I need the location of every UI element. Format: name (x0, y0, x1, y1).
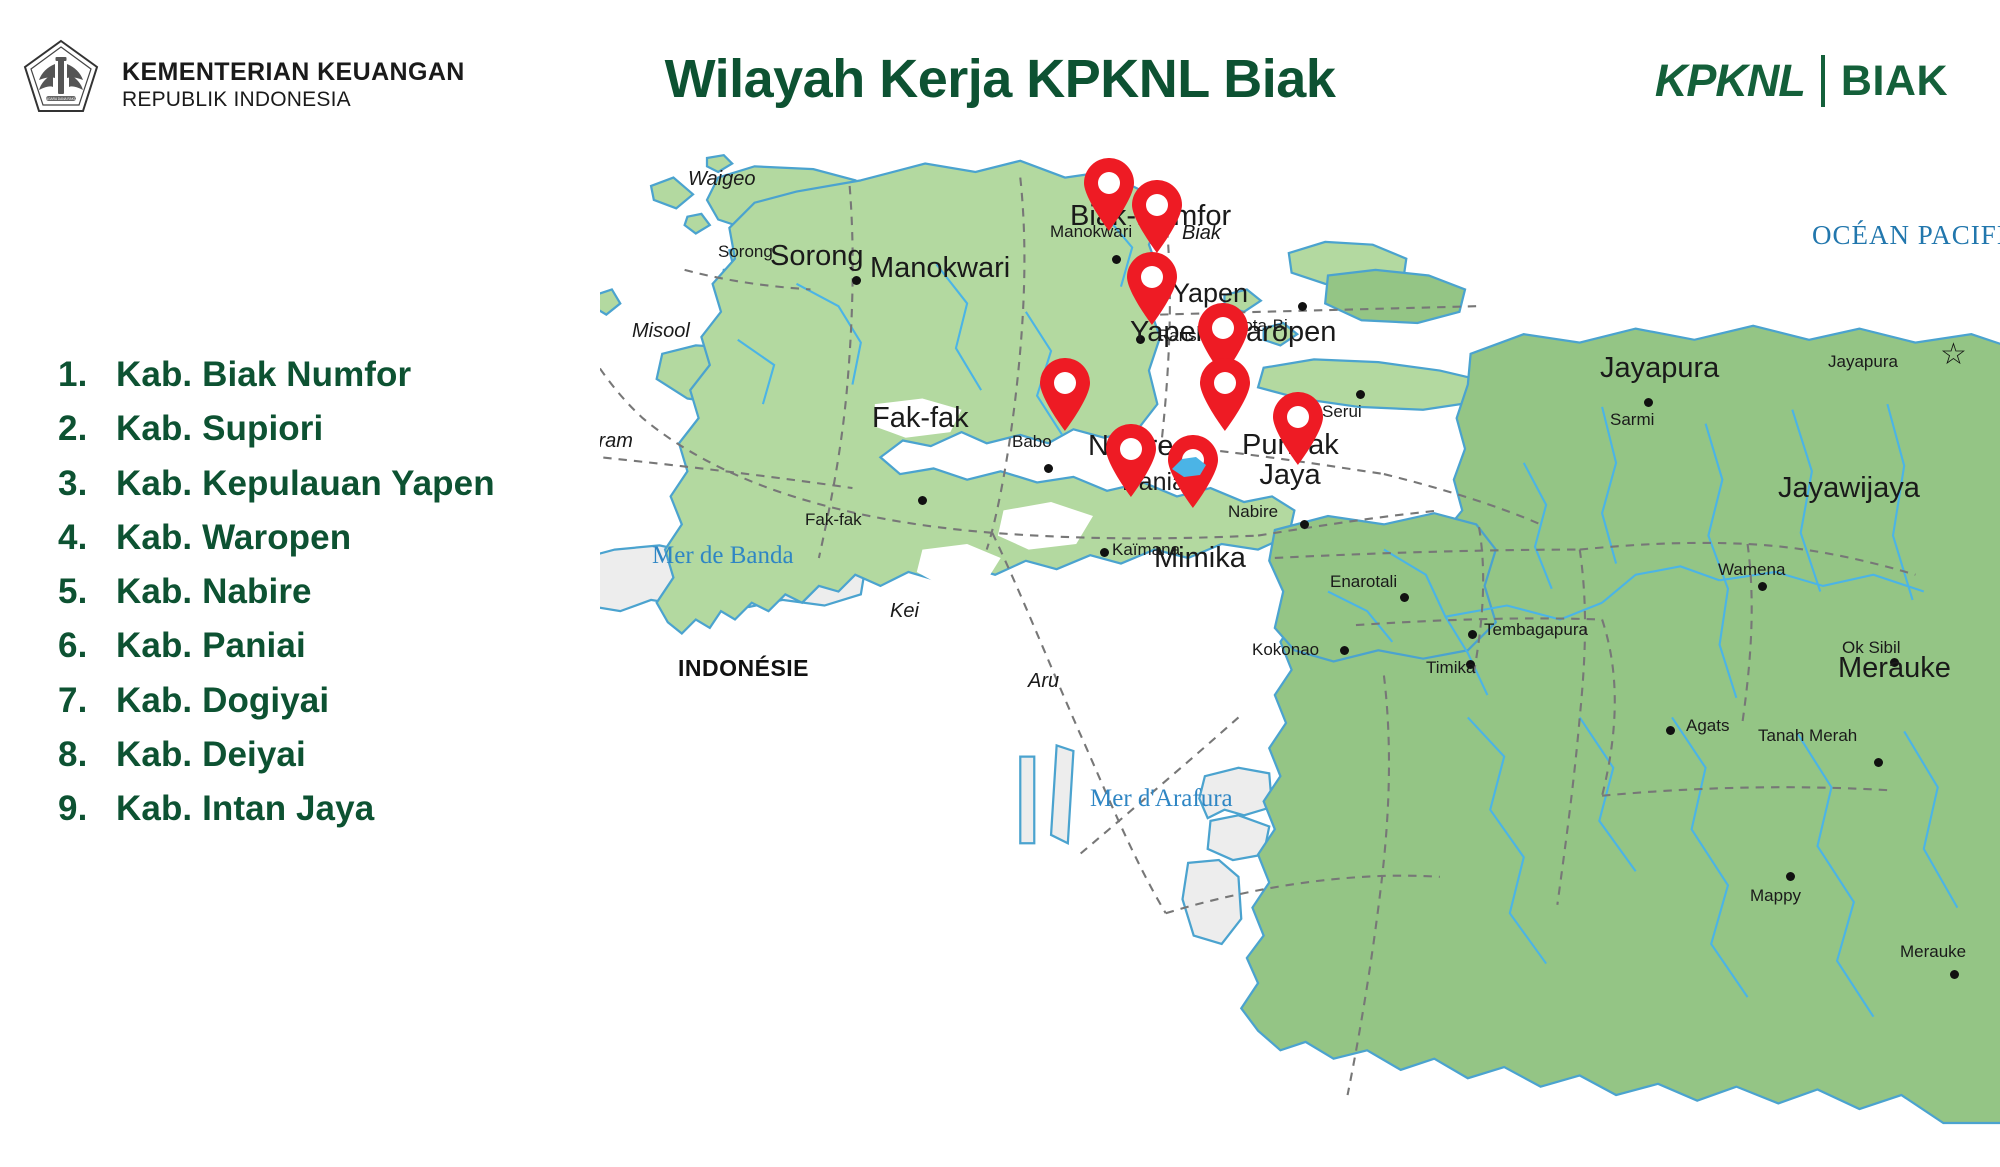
lake-paniai (1170, 455, 1210, 479)
marker-intan-jaya[interactable] (1271, 392, 1325, 466)
city-dot (1890, 658, 1899, 667)
marker-dogiyai[interactable] (1038, 358, 1092, 432)
city-dot (1466, 660, 1475, 669)
city-dot (918, 496, 927, 505)
ministry-line2: REPUBLIK INDONESIA (122, 87, 465, 113)
list-item-label: Kab. Waropen (116, 518, 351, 558)
list-item-number: 5. (58, 572, 116, 612)
list-item-label: Kab. Dogiyai (116, 681, 329, 721)
marker-paniai[interactable] (1104, 424, 1158, 498)
city-dot (1758, 582, 1767, 591)
city-dot (1400, 593, 1409, 602)
map-base-svg: .cl{stroke:#4ba3cf;stroke-width:1.6;} .l… (600, 130, 2000, 1130)
city-dot (1468, 630, 1477, 639)
land-papua (1241, 326, 2000, 1123)
marker-supiori[interactable] (1130, 180, 1184, 254)
city-dot (1340, 646, 1349, 655)
city-dot (1136, 335, 1145, 344)
list-item-number: 7. (58, 681, 116, 721)
city-dot (1100, 548, 1109, 557)
capital-star-icon: ☆ (1940, 340, 1967, 370)
city-dot (852, 276, 861, 285)
list-item-number: 1. (58, 355, 116, 395)
list-item-label: Kab. Paniai (116, 626, 306, 666)
city-dot (1874, 758, 1883, 767)
list-item-number: 4. (58, 518, 116, 558)
list-item-label: Kab. Kepulauan Yapen (116, 464, 495, 504)
ministry-wordmark: KEMENTERIAN KEUANGAN REPUBLIK INDONESIA (122, 58, 465, 113)
kpknl-biak-logo: KPKNL BIAK (1655, 55, 1948, 107)
city-dot (1950, 970, 1959, 979)
city-dot (1044, 464, 1053, 473)
city-dot (1356, 390, 1365, 399)
list-item-number: 3. (58, 464, 116, 504)
list-item-label: Kab. Intan Jaya (116, 789, 374, 829)
biak-numfor-islands (1224, 242, 1465, 345)
city-dot (1112, 255, 1121, 264)
logo-divider (1821, 55, 1825, 107)
svg-text:NAGARA DANA RAKCA: NAGARA DANA RAKCA (44, 97, 80, 101)
city-dot (1666, 726, 1675, 735)
kpknl-wordmark: KPKNL (1655, 55, 1805, 107)
slide-canvas: NAGARA DANA RAKCA KEMENTERIAN KEUANGAN R… (0, 0, 2000, 1167)
list-item-label: Kab. Nabire (116, 572, 312, 612)
list-item-number: 8. (58, 735, 116, 775)
marker-biak-numfor[interactable] (1082, 158, 1136, 232)
marker-nabire[interactable] (1198, 358, 1252, 432)
list-item-label: Kab. Supiori (116, 409, 323, 449)
list-item-label: Kab. Deiyai (116, 735, 306, 775)
list-item-number: 9. (58, 789, 116, 829)
biak-wordmark: BIAK (1841, 57, 1948, 106)
list-item-label: Kab. Biak Numfor (116, 355, 411, 395)
city-dot (1300, 520, 1309, 529)
kemenkeu-logo-icon: NAGARA DANA RAKCA (22, 38, 100, 116)
list-item-number: 6. (58, 626, 116, 666)
papua-map: .cl{stroke:#4ba3cf;stroke-width:1.6;} .l… (600, 130, 2000, 1130)
marker-kepulauan-yapen[interactable] (1125, 252, 1179, 326)
city-dot (1298, 302, 1307, 311)
city-dot (1786, 872, 1795, 881)
ministry-line1: KEMENTERIAN KEUANGAN (122, 58, 465, 87)
city-dot (1644, 398, 1653, 407)
list-item-number: 2. (58, 409, 116, 449)
